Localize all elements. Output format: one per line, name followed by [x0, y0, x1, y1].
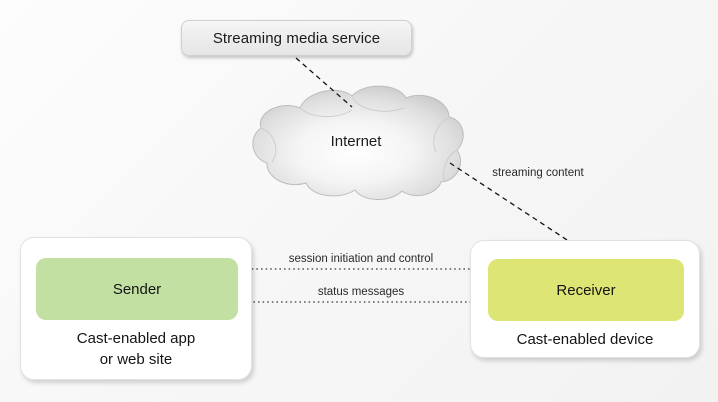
- streaming-content-label: streaming content: [492, 167, 584, 180]
- session-initiation-label: session initiation and control: [256, 253, 466, 266]
- diagram-canvas: Streaming media service Internet Sender …: [0, 0, 718, 402]
- sender-panel[interactable]: Sender Cast-enabled app or web site: [20, 237, 252, 380]
- status-messages-label: status messages: [256, 286, 466, 299]
- sender-caption: Cast-enabled app or web site: [21, 328, 251, 370]
- streaming-media-service-box[interactable]: Streaming media service: [181, 20, 412, 56]
- sender-chip[interactable]: Sender: [36, 258, 238, 320]
- receiver-panel[interactable]: Receiver Cast-enabled device: [470, 240, 700, 358]
- internet-cloud-label: Internet: [252, 133, 460, 150]
- streaming-media-service-label: Streaming media service: [213, 30, 380, 47]
- sender-caption-line1: Cast-enabled app: [21, 328, 251, 349]
- receiver-chip[interactable]: Receiver: [488, 259, 684, 321]
- sender-chip-label: Sender: [113, 281, 161, 298]
- receiver-caption: Cast-enabled device: [471, 329, 699, 350]
- receiver-caption-line1: Cast-enabled device: [471, 329, 699, 350]
- receiver-chip-label: Receiver: [556, 282, 615, 299]
- sender-caption-line2: or web site: [21, 349, 251, 370]
